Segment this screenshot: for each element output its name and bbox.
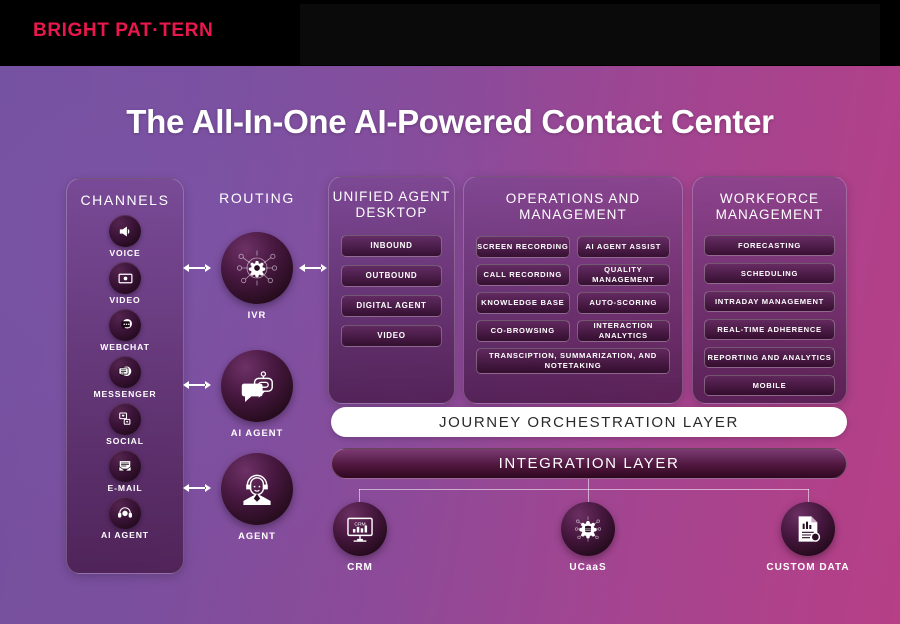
operations-management-items: SCREEN RECORDING AI AGENT ASSIST CALL RE… (476, 236, 670, 374)
channel-label: E-MAIL (67, 483, 183, 493)
workforce-management-title: WORKFORCE MANAGEMENT (693, 191, 846, 223)
unified-agent-desktop-panel: UNIFIED AGENT DESKTOP INBOUND OUTBOUND D… (328, 176, 455, 404)
arrow-channels-to-agent (183, 481, 211, 499)
integration-layer-bar[interactable]: INTEGRATION LAYER (331, 448, 847, 479)
megaphone-icon (109, 215, 141, 247)
video-camera-icon (109, 262, 141, 294)
unified-agent-desktop-title: UNIFIED AGENT DESKTOP (329, 189, 454, 221)
svg-text:CRM: CRM (354, 521, 365, 527)
ops-chip-co-browsing[interactable]: CO-BROWSING (476, 320, 570, 342)
wfm-chip-real-time-adherence[interactable]: REAL-TIME ADHERENCE (704, 319, 835, 340)
channel-item-social[interactable]: SOCIAL (67, 403, 183, 446)
routing-label: AI AGENT (196, 427, 318, 438)
routing-label: IVR (196, 309, 318, 320)
channels-panel: CHANNELS VOICE VIDEO WEBCHAT (66, 178, 184, 574)
connector-vertical-center (588, 479, 589, 489)
routing-item-ai-agent[interactable]: AI AGENT (196, 350, 318, 438)
integration-node-custom-data[interactable]: CUSTOM DATA (748, 502, 868, 573)
brand-logo: BRIGHT PAT·TERN (33, 20, 213, 42)
uad-chip-outbound[interactable]: OUTBOUND (341, 265, 442, 287)
ops-chip-interaction-analytics[interactable]: INTERACTION ANALYTICS (577, 320, 671, 342)
wfm-chip-intraday-management[interactable]: INTRADAY MANAGEMENT (704, 291, 835, 312)
wfm-chip-forecasting[interactable]: FORECASTING (704, 235, 835, 256)
uad-chip-video[interactable]: VIDEO (341, 325, 442, 347)
channel-item-email[interactable]: E-MAIL (67, 450, 183, 493)
channels-title: CHANNELS (67, 192, 183, 208)
ops-chip-quality-management[interactable]: QUALITY MANAGEMENT (577, 264, 671, 286)
slide-canvas: BRIGHT PAT·TERN The All-In-One AI-Powere… (0, 0, 900, 624)
social-hearts-icon (109, 403, 141, 435)
channel-item-voice[interactable]: VOICE (67, 215, 183, 258)
wfm-chip-scheduling[interactable]: SCHEDULING (704, 263, 835, 284)
connector-drop-ucaas (588, 489, 589, 502)
bot-chat-icon (221, 350, 293, 422)
uad-chip-digital-agent[interactable]: DIGITAL AGENT (341, 295, 442, 317)
document-chart-icon (781, 502, 835, 556)
chat-bubbles-icon (109, 309, 141, 341)
crm-monitor-icon: CRM (333, 502, 387, 556)
integration-label: UCaaS (528, 562, 648, 573)
workforce-management-panel: WORKFORCE MANAGEMENT FORECASTING SCHEDUL… (692, 176, 847, 404)
headset-bot-icon (109, 497, 141, 529)
channel-label: MESSENGER (67, 389, 183, 399)
channel-label: VIDEO (67, 295, 183, 305)
arrow-ivr-to-desktop (299, 261, 327, 279)
connector-drop-crm (359, 489, 360, 502)
channel-label: AI AGENT (67, 530, 183, 540)
message-lines-icon (109, 356, 141, 388)
ops-chip-call-recording[interactable]: CALL RECORDING (476, 264, 570, 286)
operations-management-title: OPERATIONS AND MANAGEMENT (464, 191, 682, 223)
ops-chip-screen-recording[interactable]: SCREEN RECORDING (476, 236, 570, 258)
channels-list: VOICE VIDEO WEBCHAT MESSENGER (67, 215, 183, 540)
channel-item-webchat[interactable]: WEBCHAT (67, 309, 183, 352)
gear-network-icon (221, 232, 293, 304)
ops-chip-transcription[interactable]: TRANSCIPTION, SUMMARIZATION, AND NOTETAK… (476, 348, 670, 374)
ops-chip-auto-scoring[interactable]: AUTO-SCORING (577, 292, 671, 314)
journey-orchestration-layer-bar[interactable]: JOURNEY ORCHESTRATION LAYER (331, 407, 847, 437)
channel-label: SOCIAL (67, 436, 183, 446)
agent-person-icon (221, 453, 293, 525)
ops-chip-ai-agent-assist[interactable]: AI AGENT ASSIST (577, 236, 671, 258)
header-right-panel (300, 4, 880, 65)
channel-item-messenger[interactable]: MESSENGER (67, 356, 183, 399)
ucaas-network-icon (561, 502, 615, 556)
integration-label: CRM (300, 562, 420, 573)
channel-item-ai-agent[interactable]: AI AGENT (67, 497, 183, 540)
routing-title: ROUTING (196, 190, 318, 206)
connector-drop-custom-data (808, 489, 809, 502)
connector-horizontal (359, 489, 809, 490)
operations-management-panel: OPERATIONS AND MANAGEMENT SCREEN RECORDI… (463, 176, 683, 404)
integration-node-crm[interactable]: CRM CRM (300, 502, 420, 573)
header-bar: BRIGHT PAT·TERN (0, 0, 900, 66)
workforce-management-items: FORECASTING SCHEDULING INTRADAY MANAGEME… (704, 235, 835, 396)
wfm-chip-mobile[interactable]: MOBILE (704, 375, 835, 396)
integration-layer-label: INTEGRATION LAYER (499, 455, 680, 472)
integration-node-ucaas[interactable]: UCaaS (528, 502, 648, 573)
arrow-channels-to-ai-agent (183, 378, 211, 396)
channel-label: VOICE (67, 248, 183, 258)
envelope-icon (109, 450, 141, 482)
channel-item-video[interactable]: VIDEO (67, 262, 183, 305)
arrow-channels-to-ivr (183, 261, 211, 279)
uad-chip-inbound[interactable]: INBOUND (341, 235, 442, 257)
integration-label: CUSTOM DATA (748, 562, 868, 573)
page-title: The All-In-One AI-Powered Contact Center (0, 103, 900, 141)
journey-orchestration-layer-label: JOURNEY ORCHESTRATION LAYER (439, 414, 739, 431)
wfm-chip-reporting-and-analytics[interactable]: REPORTING AND ANALYTICS (704, 347, 835, 368)
unified-agent-desktop-items: INBOUND OUTBOUND DIGITAL AGENT VIDEO (341, 235, 442, 347)
channel-label: WEBCHAT (67, 342, 183, 352)
ops-chip-knowledge-base[interactable]: KNOWLEDGE BASE (476, 292, 570, 314)
